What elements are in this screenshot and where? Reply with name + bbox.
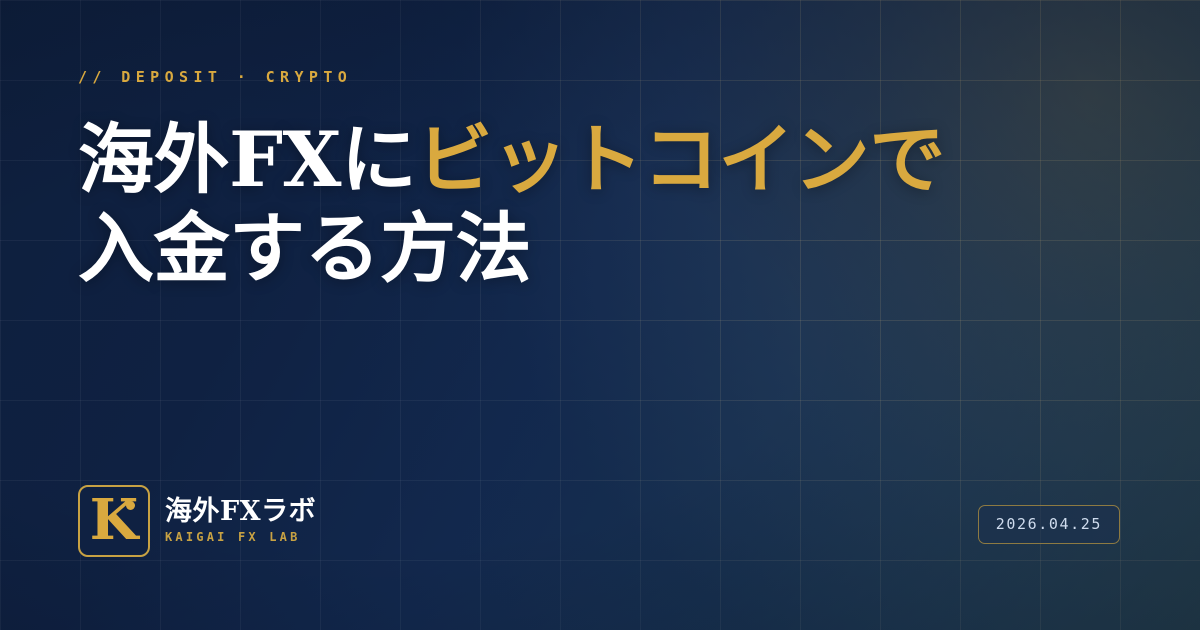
eyebrow-label: // DEPOSIT · CRYPTO [78,68,352,86]
headline-line-2: 入金する方法 [78,205,945,294]
headline-line-1-white: 海外FXに [78,115,416,204]
headline-line-1-gold: ビットコインで [416,115,945,204]
brand-text: 海外FXラボ KAIGAI FX LAB [165,498,316,544]
page-title: 海外FXにビットコインで 入金する方法 [78,116,945,294]
logo-k-letter: K [80,492,148,548]
headline-line-1: 海外FXにビットコインで [78,116,945,205]
brand-name-en: KAIGAI FX LAB [165,530,316,544]
date-badge: 2026.04.25 [978,505,1120,544]
brand-lockup: K 海外FXラボ KAIGAI FX LAB [78,485,316,557]
logo-dot-icon [126,501,135,510]
brand-name-jp: 海外FXラボ [165,498,316,526]
ogp-canvas: // DEPOSIT · CRYPTO 海外FXにビットコインで 入金する方法 … [0,0,1200,630]
logo-mark: K [78,485,150,557]
